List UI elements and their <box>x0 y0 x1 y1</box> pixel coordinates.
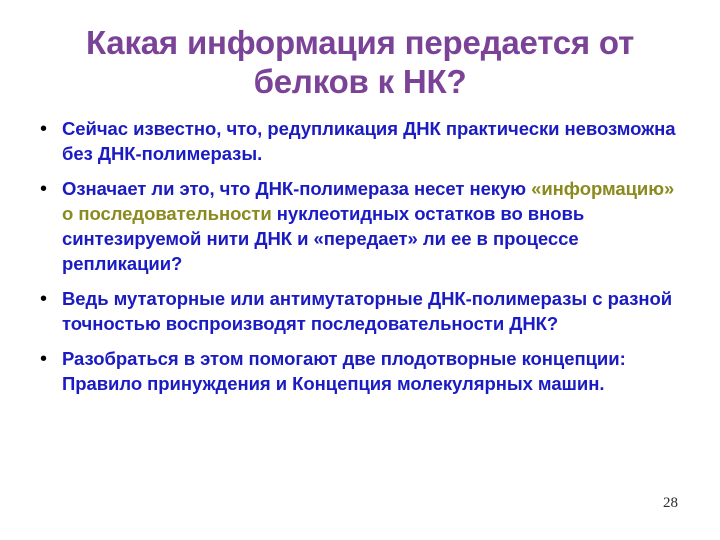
list-item: • Ведь мутаторные или антимутаторные ДНК… <box>34 286 686 336</box>
list-item: • Означает ли это, что ДНК-полимераза не… <box>34 176 686 276</box>
bullet-point-icon: • <box>34 176 62 202</box>
bullet-segment: Сейчас известно, что, редупликация ДНК п… <box>62 118 676 164</box>
slide-canvas: Какая информация передается от белков к … <box>0 0 720 540</box>
bullet-text: Ведь мутаторные или антимутаторные ДНК-п… <box>62 286 686 336</box>
list-item: • Разобраться в этом помогают две плодот… <box>34 346 686 396</box>
page-number: 28 <box>663 495 678 512</box>
bullet-point-icon: • <box>34 346 62 372</box>
page-title: Какая информация передается от белков к … <box>36 24 684 102</box>
bullet-point-icon: • <box>34 286 62 312</box>
bullet-text: Разобраться в этом помогают две плодотво… <box>62 346 686 396</box>
bullet-text: Сейчас известно, что, редупликация ДНК п… <box>62 116 686 166</box>
bullet-text: Означает ли это, что ДНК-полимераза несе… <box>62 176 686 276</box>
list-item: • Сейчас известно, что, редупликация ДНК… <box>34 116 686 166</box>
bullet-segment: Разобраться в этом помогают две плодотво… <box>62 348 626 394</box>
bullet-point-icon: • <box>34 116 62 142</box>
bullet-list: • Сейчас известно, что, редупликация ДНК… <box>34 116 686 406</box>
bullet-segment: Ведь мутаторные или антимутаторные ДНК-п… <box>62 288 672 334</box>
bullet-segment: Означает ли это, что ДНК-полимераза несе… <box>62 178 531 199</box>
